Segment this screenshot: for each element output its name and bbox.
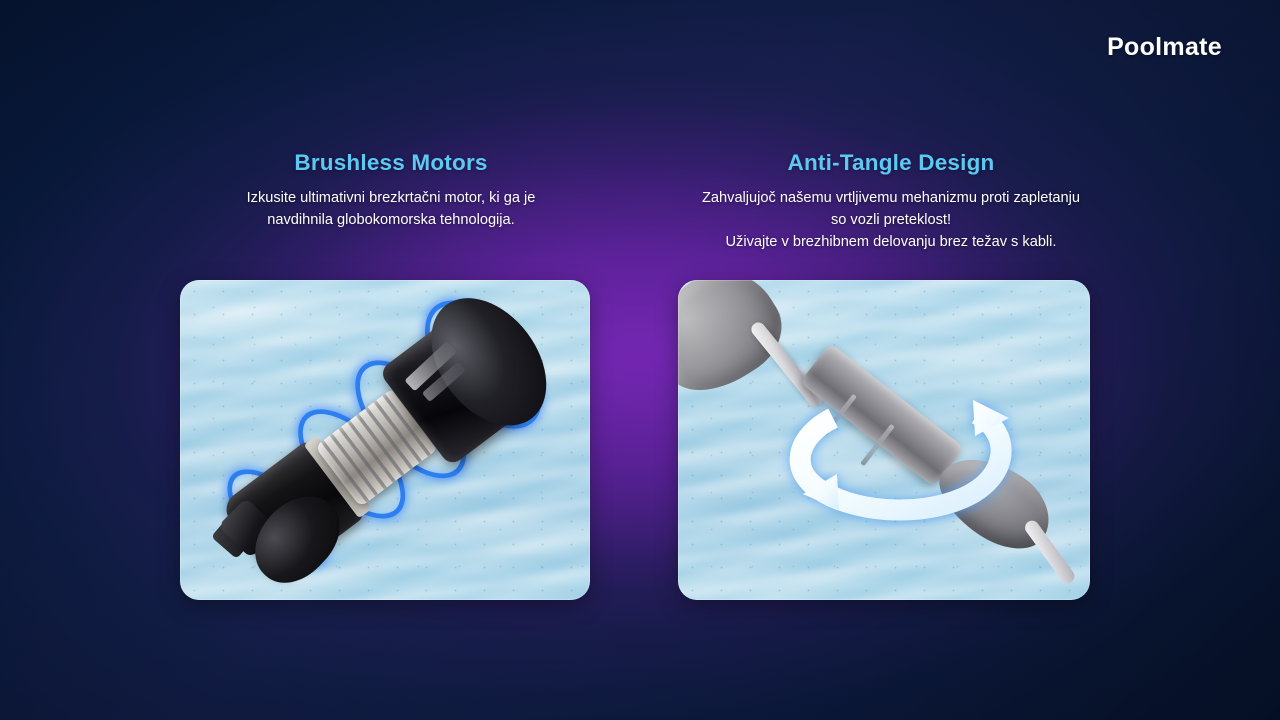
- rotation-arrow-icon: [777, 356, 1037, 556]
- feature-image-card-anti-tangle-design: [678, 280, 1090, 600]
- anti-tangle-swivel-illustration: [678, 290, 1090, 590]
- panel-description: Zahvaljujoč našemu vrtljivemu mehanizmu …: [596, 187, 1186, 253]
- panel-description-line: Zahvaljujoč našemu vrtljivemu mehanizmu …: [596, 187, 1186, 209]
- panel-description-line: Uživajte v brezhibnem delovanju brez tež…: [596, 231, 1186, 253]
- feature-panel-anti-tangle-design: Anti-Tangle Design Zahvaljujoč našemu vr…: [596, 148, 1186, 253]
- panel-description-line: so vozli preteklost!: [596, 209, 1186, 231]
- brand-logo: Poolmate: [1107, 33, 1222, 62]
- panel-heading: Anti-Tangle Design: [596, 148, 1186, 178]
- feature-image-card-brushless-motors: [180, 280, 590, 600]
